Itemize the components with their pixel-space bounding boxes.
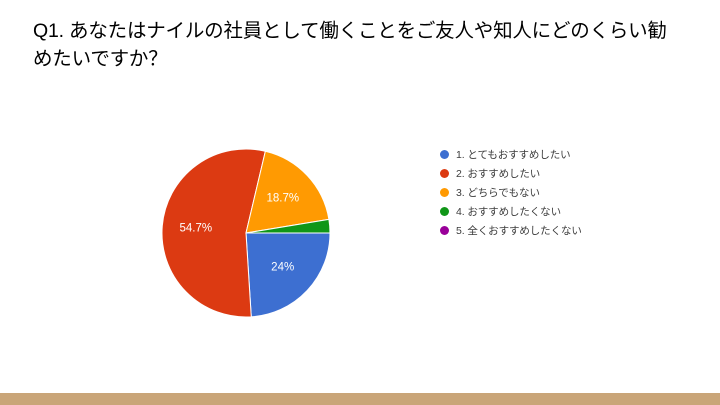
accent-bar bbox=[0, 393, 720, 405]
legend-item-label: 3. どちらでもない bbox=[456, 185, 540, 200]
legend-item-5[interactable]: 5. 全くおすすめしたくない bbox=[440, 221, 582, 240]
pie-svg: 24%54.7%18.7% bbox=[162, 149, 330, 317]
pie-chart: 24%54.7%18.7% 1. とてもおすすめしたい2. おすすめしたい3. … bbox=[0, 0, 720, 380]
legend-item-2[interactable]: 2. おすすめしたい bbox=[440, 164, 582, 183]
legend-item-label: 1. とてもおすすめしたい bbox=[456, 147, 571, 162]
legend-swatch-icon bbox=[440, 188, 449, 197]
legend-item-label: 2. おすすめしたい bbox=[456, 166, 540, 181]
pie-slice-1[interactable] bbox=[246, 233, 330, 317]
pie-slice-value-label: 24% bbox=[271, 262, 294, 274]
legend-item-4[interactable]: 4. おすすめしたくない bbox=[440, 202, 582, 221]
chart-legend: 1. とてもおすすめしたい2. おすすめしたい3. どちらでもない4. おすすめ… bbox=[440, 145, 582, 240]
legend-item-label: 4. おすすめしたくない bbox=[456, 204, 561, 219]
legend-swatch-icon bbox=[440, 226, 449, 235]
slide-canvas: Q1. あなたはナイルの社員として働くことをご友人や知人にどのくらい勧めたいです… bbox=[0, 0, 720, 405]
legend-item-3[interactable]: 3. どちらでもない bbox=[440, 183, 582, 202]
legend-swatch-icon bbox=[440, 207, 449, 216]
pie-graphic: 24%54.7%18.7% bbox=[162, 149, 330, 317]
legend-swatch-icon bbox=[440, 150, 449, 159]
legend-swatch-icon bbox=[440, 169, 449, 178]
legend-item-label: 5. 全くおすすめしたくない bbox=[456, 223, 582, 238]
pie-slice-value-label: 54.7% bbox=[179, 223, 212, 235]
legend-item-1[interactable]: 1. とてもおすすめしたい bbox=[440, 145, 582, 164]
pie-slice-value-label: 18.7% bbox=[266, 193, 299, 205]
